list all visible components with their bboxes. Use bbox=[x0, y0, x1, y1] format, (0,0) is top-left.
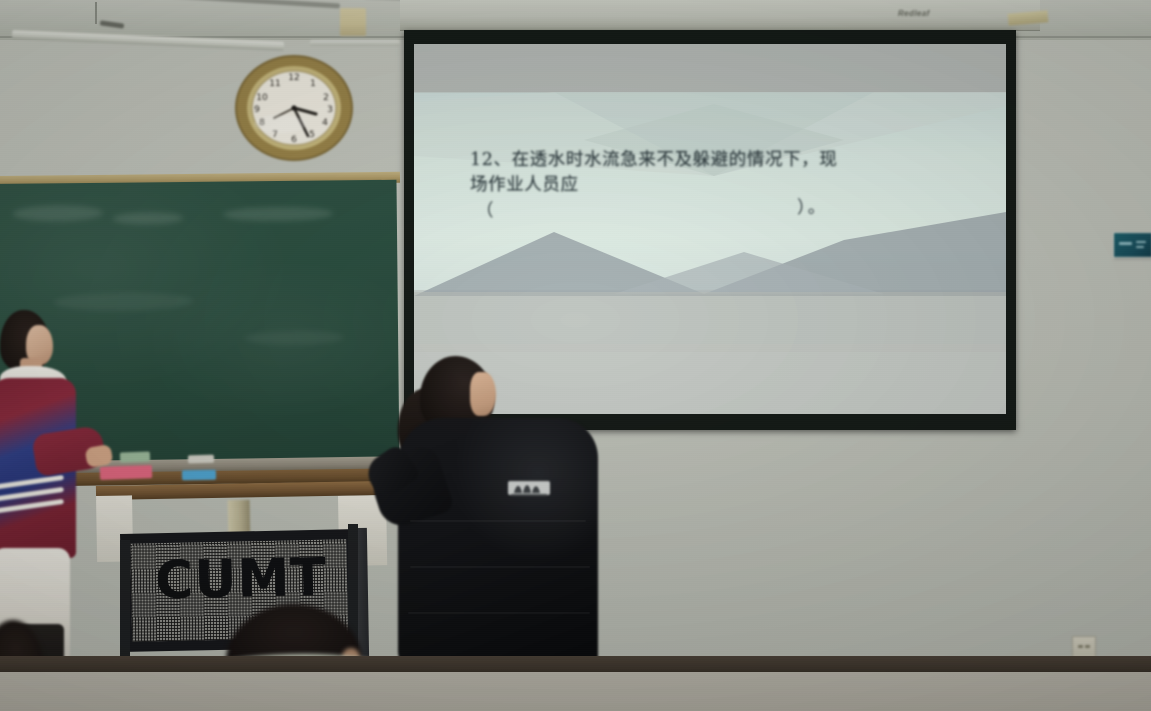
projector-screen: 12、在透水时水流急来不及躲避的情况下，现 场作业人员应 （ ）。 bbox=[404, 30, 1016, 430]
podium-logo-text: CUMT bbox=[134, 551, 347, 607]
presenter-jacket-seam bbox=[410, 520, 586, 522]
outlet-slot bbox=[1085, 645, 1090, 648]
svg-text:3: 3 bbox=[327, 105, 333, 115]
slide-question-line1: 12、在透水时水流急来不及躲避的情况下，现 bbox=[470, 150, 837, 170]
presenter-jacket-seam bbox=[410, 566, 590, 568]
svg-text:4: 4 bbox=[322, 118, 328, 128]
classroom-photo: Redleaf bbox=[0, 0, 1151, 711]
presenter-face bbox=[470, 372, 496, 416]
slide-artwork bbox=[414, 44, 1006, 414]
wall-sign-text-line bbox=[1136, 241, 1146, 243]
projector-brand-label: Redleaf bbox=[898, 9, 930, 18]
podium-leg bbox=[120, 540, 130, 658]
jacket-brand-logo-icon bbox=[508, 478, 550, 500]
wall-clock: 12 1 2 3 4 5 6 7 8 9 10 11 bbox=[234, 52, 354, 169]
presentation-slide: 12、在透水时水流急来不及躲避的情况下，现 场作业人员应 （ ）。 bbox=[414, 44, 1006, 414]
wall-sign bbox=[1113, 232, 1151, 258]
chalk-smudge bbox=[113, 212, 183, 225]
ledge-chalk-box bbox=[120, 451, 150, 462]
svg-text:5: 5 bbox=[309, 130, 315, 140]
slide-blank-paren-close: ）。 bbox=[797, 194, 827, 219]
light-rod bbox=[95, 2, 97, 24]
svg-text:6: 6 bbox=[291, 135, 297, 145]
ledge-eraser bbox=[188, 455, 214, 464]
slide-question-text: 12、在透水时水流急来不及躲避的情况下，现 场作业人员应 bbox=[470, 148, 970, 198]
floor bbox=[0, 672, 1151, 711]
chalk-smudge bbox=[223, 206, 333, 221]
wall-sign-text-line bbox=[1119, 242, 1132, 245]
wall-sign-text-line bbox=[1136, 246, 1144, 248]
slide-question-line2: 场作业人员应 bbox=[470, 173, 970, 198]
presenter-jacket-seam bbox=[408, 612, 590, 614]
svg-text:12: 12 bbox=[288, 73, 299, 83]
ledge-item-blue bbox=[182, 470, 216, 481]
svg-text:9: 9 bbox=[254, 105, 260, 115]
ledge-paper-pink bbox=[100, 465, 152, 480]
svg-text:2: 2 bbox=[323, 93, 329, 103]
ceiling-light-box bbox=[340, 8, 366, 36]
projector-screen-case: Redleaf bbox=[400, 0, 1040, 31]
chalk-smudge bbox=[54, 292, 194, 311]
slide-blank-paren-open: （ bbox=[476, 197, 494, 222]
svg-text:11: 11 bbox=[269, 79, 280, 89]
svg-text:1: 1 bbox=[310, 79, 316, 89]
outlet-slot bbox=[1078, 645, 1083, 648]
projection-surface: 12、在透水时水流急来不及躲避的情况下，现 场作业人员应 （ ）。 bbox=[414, 44, 1006, 414]
chalk-smudge bbox=[13, 205, 103, 222]
chalk-smudge bbox=[244, 330, 344, 345]
ceiling-light-tube bbox=[310, 40, 400, 46]
svg-text:10: 10 bbox=[256, 93, 268, 103]
